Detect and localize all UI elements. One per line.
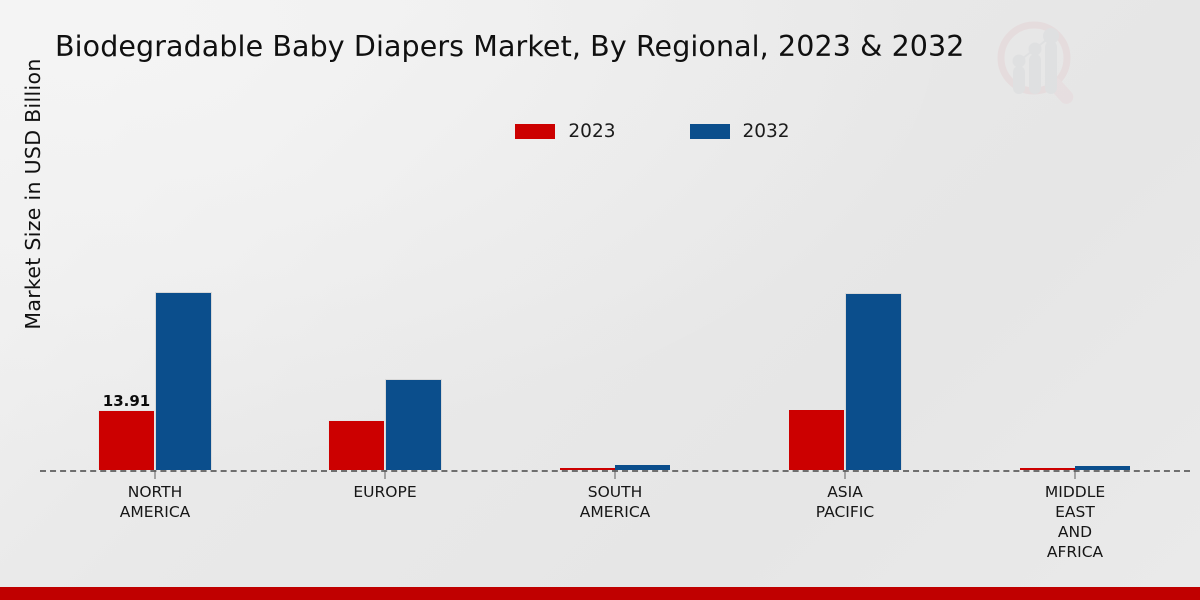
bar-group-south-america: SOUTH AMERICA [500, 160, 730, 470]
bar-group-asia-pacific: ASIA PACIFIC [730, 160, 960, 470]
legend-item-2032[interactable]: 2032 [690, 121, 790, 142]
watermark-logo [988, 14, 1088, 114]
bar-2023-south-america[interactable] [560, 468, 615, 470]
legend-swatch-2023 [515, 124, 555, 139]
chart-canvas: Biodegradable Baby Diapers Market, By Re… [0, 0, 1200, 600]
bar-2023-europe[interactable] [328, 420, 385, 470]
x-tick-europe [385, 470, 386, 479]
bar-group-middle-east-and-africa: MIDDLE EAST AND AFRICA [960, 160, 1190, 470]
x-label-europe: EUROPE [300, 482, 470, 502]
x-label-asia-pacific: ASIA PACIFIC [760, 482, 930, 522]
legend-label-2032: 2032 [743, 121, 790, 142]
footer-bar [0, 587, 1200, 600]
bar-groups: 13.91 NORTH AMERICA EUROPE [40, 160, 1190, 470]
x-tick-north-america [155, 470, 156, 479]
bar-2023-middle-east-and-africa[interactable] [1020, 468, 1075, 470]
x-tick-south-america [615, 470, 616, 479]
legend-item-2023[interactable]: 2023 [515, 121, 615, 142]
x-tick-middle-east-and-africa [1075, 470, 1076, 479]
bar-group-europe: EUROPE [270, 160, 500, 470]
bar-2032-south-america[interactable] [615, 465, 670, 470]
bar-2023-asia-pacific[interactable] [788, 409, 845, 470]
plot-area: 13.91 NORTH AMERICA EUROPE [40, 160, 1190, 470]
legend-label-2023: 2023 [568, 121, 615, 142]
bar-group-north-america: 13.91 NORTH AMERICA [40, 160, 270, 470]
legend-swatch-2032 [690, 124, 730, 139]
x-label-north-america: NORTH AMERICA [70, 482, 240, 522]
chart-title: Biodegradable Baby Diapers Market, By Re… [55, 30, 1115, 63]
bar-2032-north-america[interactable] [155, 292, 212, 470]
bar-2023-north-america[interactable]: 13.91 [98, 410, 155, 470]
bar-2032-europe[interactable] [385, 379, 442, 470]
bar-value-label-north-america-2023: 13.91 [103, 392, 150, 410]
x-label-middle-east-and-africa: MIDDLE EAST AND AFRICA [990, 482, 1160, 562]
bar-2032-middle-east-and-africa[interactable] [1075, 466, 1130, 470]
bar-2032-asia-pacific[interactable] [845, 293, 902, 470]
x-tick-asia-pacific [845, 470, 846, 479]
chart-legend: 2023 2032 [0, 118, 1200, 144]
x-label-south-america: SOUTH AMERICA [530, 482, 700, 522]
